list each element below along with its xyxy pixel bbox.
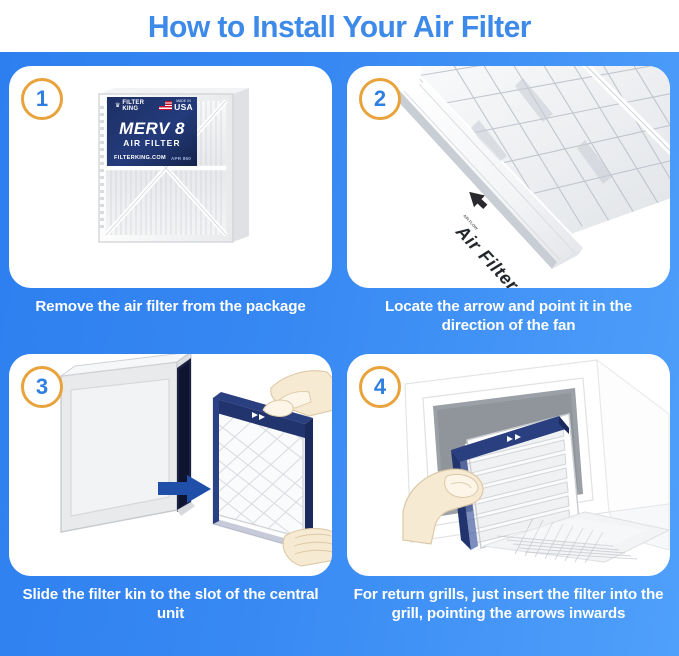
us-flag-icon	[159, 101, 172, 110]
step-1-badge: 1	[21, 78, 63, 120]
label-rating-code: APR 850	[171, 156, 191, 161]
product-label: ♛ FILTER KING MADE IN	[107, 97, 197, 166]
step-3-caption: Slide the filter kin to the slot of the …	[9, 585, 332, 624]
brand-line-2: KING	[122, 106, 144, 112]
step-1: 1	[9, 66, 332, 316]
made-in-usa-mark: MADE IN USA	[159, 100, 193, 112]
merv-rating-text: MERV 8	[107, 120, 197, 137]
step-3: 3	[9, 354, 332, 624]
filter-king-logo: ♛ FILTER KING	[115, 100, 144, 112]
step-3-badge: 3	[21, 366, 63, 408]
step-4: 4	[347, 354, 670, 624]
steps-canvas: 1	[0, 52, 679, 656]
flag-text-usa: USA	[174, 103, 193, 112]
step-3-number: 3	[36, 376, 48, 398]
king-crown-icon: ♛	[115, 103, 120, 109]
step-4-card: 4	[347, 354, 670, 576]
page-title: How to Install Your Air Filter	[148, 11, 531, 42]
step-3-card: 3	[9, 354, 332, 576]
step-1-caption: Remove the air filter from the package	[9, 297, 332, 316]
page-header: How to Install Your Air Filter	[0, 0, 679, 52]
air-filter-subtitle: AIR FILTER	[107, 139, 197, 147]
step-2-number: 2	[374, 88, 386, 110]
step-4-badge: 4	[359, 366, 401, 408]
step-2-card: 2	[347, 66, 670, 288]
step-4-number: 4	[374, 376, 386, 398]
step-4-caption: For return grills, just insert the filte…	[347, 585, 670, 624]
step-1-number: 1	[36, 88, 48, 110]
step-2-badge: 2	[359, 78, 401, 120]
infographic-page: How to Install Your Air Filter 1	[0, 0, 679, 656]
step-2: 2	[347, 66, 670, 336]
step-1-card: 1	[9, 66, 332, 288]
step-2-caption: Locate the arrow and point it in the dir…	[347, 297, 670, 336]
hand-bottom	[283, 529, 332, 566]
label-website: FILTERKING.COM	[114, 155, 166, 161]
